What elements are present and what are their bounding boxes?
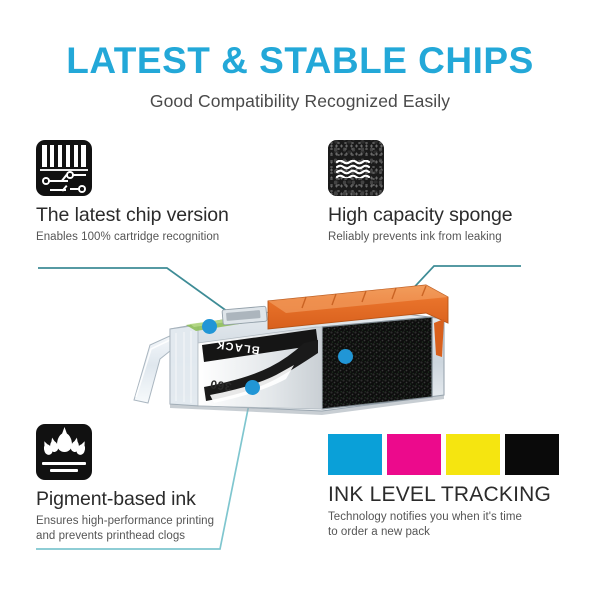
chip-icon xyxy=(36,140,92,196)
chip-icon-node xyxy=(66,171,74,179)
chip-icon-bars xyxy=(42,145,86,167)
feature-description: Technology notifies you when it's time t… xyxy=(328,510,578,540)
feature-description: Enables 100% cartridge recognition xyxy=(36,230,286,245)
feature-description-line: Ensures high-performance printing xyxy=(36,514,286,529)
header: LATEST & STABLE CHIPS Good Compatibility… xyxy=(0,42,600,112)
swatch-magenta xyxy=(387,434,441,475)
callout-dot-chip xyxy=(202,319,217,334)
chip-icon-node xyxy=(42,177,50,185)
feature-description-line: to order a new pack xyxy=(328,525,578,540)
sponge-icon-waves xyxy=(336,160,376,177)
page-subtitle: Good Compatibility Recognized Easily xyxy=(0,91,600,112)
ink-drop-icon xyxy=(36,424,92,480)
feature-title: High capacity sponge xyxy=(328,204,578,227)
feature-title: Pigment-based ink xyxy=(36,488,286,511)
page-title: LATEST & STABLE CHIPS xyxy=(0,42,600,81)
feature-description: Ensures high-performance printing and pr… xyxy=(36,514,286,544)
feature-description-line: Technology notifies you when it's time xyxy=(328,510,578,525)
chip-icon-divider xyxy=(40,169,88,171)
cmyk-swatches-icon xyxy=(328,434,578,475)
feature-ink-level-tracking: INK LEVEL TRACKING Technology notifies y… xyxy=(328,434,578,540)
cartridge-sponge-window xyxy=(322,317,432,409)
feature-title: The latest chip version xyxy=(36,204,286,227)
swatch-yellow xyxy=(446,434,500,475)
feature-description-line: and prevents printhead clogs xyxy=(36,529,286,544)
ink-drop-icon-bar xyxy=(50,469,78,472)
infographic-page: LATEST & STABLE CHIPS Good Compatibility… xyxy=(0,0,600,600)
feature-pigment-based-ink: Pigment-based ink Ensures high-performan… xyxy=(36,424,286,544)
ink-drop-icon-bar xyxy=(42,462,86,465)
swatch-black xyxy=(505,434,559,475)
swatch-cyan xyxy=(328,434,382,475)
ink-cartridge-image: BLACK 360 xyxy=(126,283,456,416)
callout-dot-sponge xyxy=(338,349,353,364)
chip-icon-node xyxy=(78,185,86,193)
feature-latest-chip-version: The latest chip version Enables 100% car… xyxy=(36,140,286,245)
ink-drop-icon-main-drop xyxy=(57,433,72,452)
sponge-icon xyxy=(328,140,384,196)
feature-high-capacity-sponge: High capacity sponge Reliably prevents i… xyxy=(328,140,578,245)
feature-description: Reliably prevents ink from leaking xyxy=(328,230,578,245)
feature-title: INK LEVEL TRACKING xyxy=(328,483,578,507)
callout-dot-ink xyxy=(245,380,260,395)
